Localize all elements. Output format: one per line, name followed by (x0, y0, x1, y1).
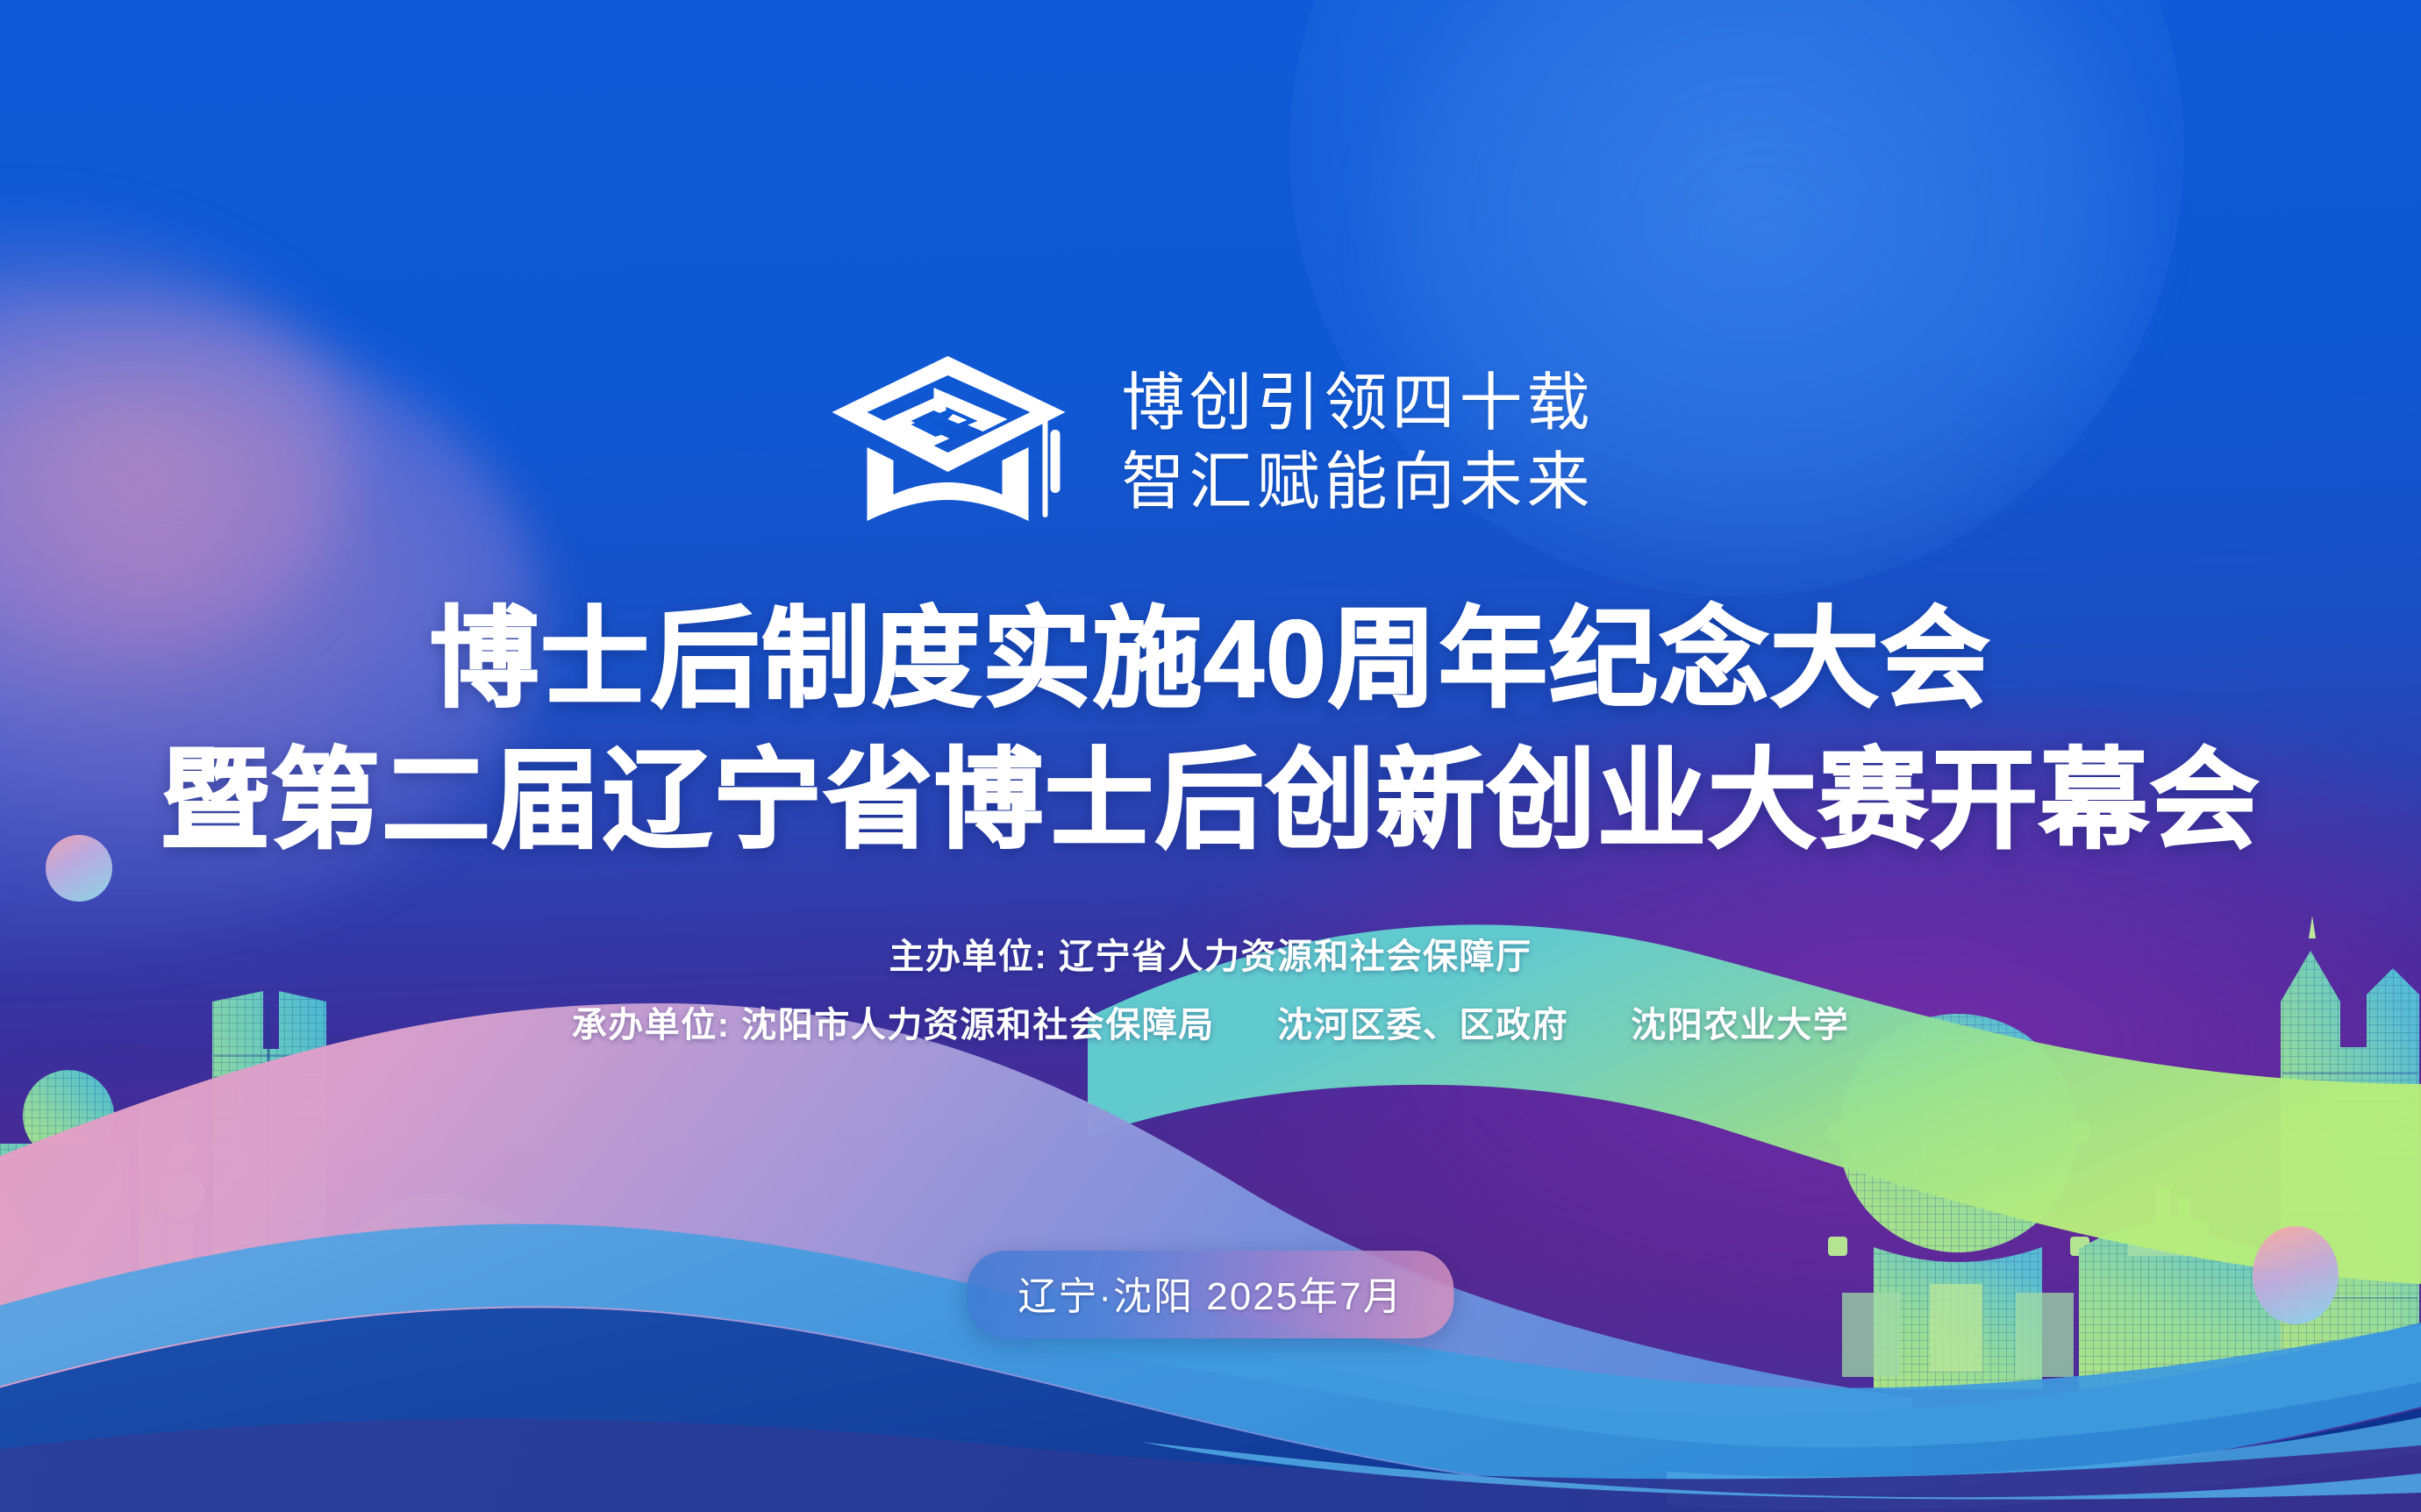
title-line-2: 暨第二届辽宁省博士后创新创业大赛开幕会 (0, 731, 2421, 872)
host-organizer-line: 主办单位: 辽宁省人力资源和社会保障厅 (0, 923, 2421, 991)
graduation-cap-icon (826, 349, 1074, 537)
slogan-line-1: 博创引领四十载 (1121, 367, 1594, 439)
slogan-block: 博创引领四十载 智汇赋能向未来 (1121, 367, 1594, 518)
slogan-line-2: 智汇赋能向未来 (1121, 446, 1594, 518)
co-organizer-line: 承办单位: 沈阳市人力资源和社会保障局 沈河区委、区政府 沈阳农业大学 (0, 991, 2421, 1059)
organizers-block: 主办单位: 辽宁省人力资源和社会保障厅 承办单位: 沈阳市人力资源和社会保障局 … (0, 923, 2421, 1059)
co-organizer-label: 承办单位: (572, 1006, 731, 1045)
banner-content: 博创引领四十载 智汇赋能向未来 博士后制度实施40周年纪念大会 暨第二届辽宁省博… (0, 0, 2421, 1512)
page-title: 博士后制度实施40周年纪念大会 暨第二届辽宁省博士后创新创业大赛开幕会 (0, 589, 2421, 872)
date-location-badge: 辽宁·沈阳 2025年7月 (967, 1251, 1453, 1338)
co-organizer-1: 沈阳市人力资源和社会保障局 (741, 1006, 1215, 1045)
co-organizer-3: 沈阳农业大学 (1631, 1006, 1849, 1045)
co-organizer-2: 沈河区委、区政府 (1277, 1006, 1568, 1045)
conference-banner: 博创引领四十载 智汇赋能向未来 博士后制度实施40周年纪念大会 暨第二届辽宁省博… (0, 0, 2421, 1512)
title-line-1: 博士后制度实施40周年纪念大会 (0, 589, 2421, 731)
logo-and-slogan: 博创引领四十载 智汇赋能向未来 (826, 349, 1594, 537)
date-location-text: 辽宁·沈阳 2025年7月 (1018, 1265, 1403, 1321)
